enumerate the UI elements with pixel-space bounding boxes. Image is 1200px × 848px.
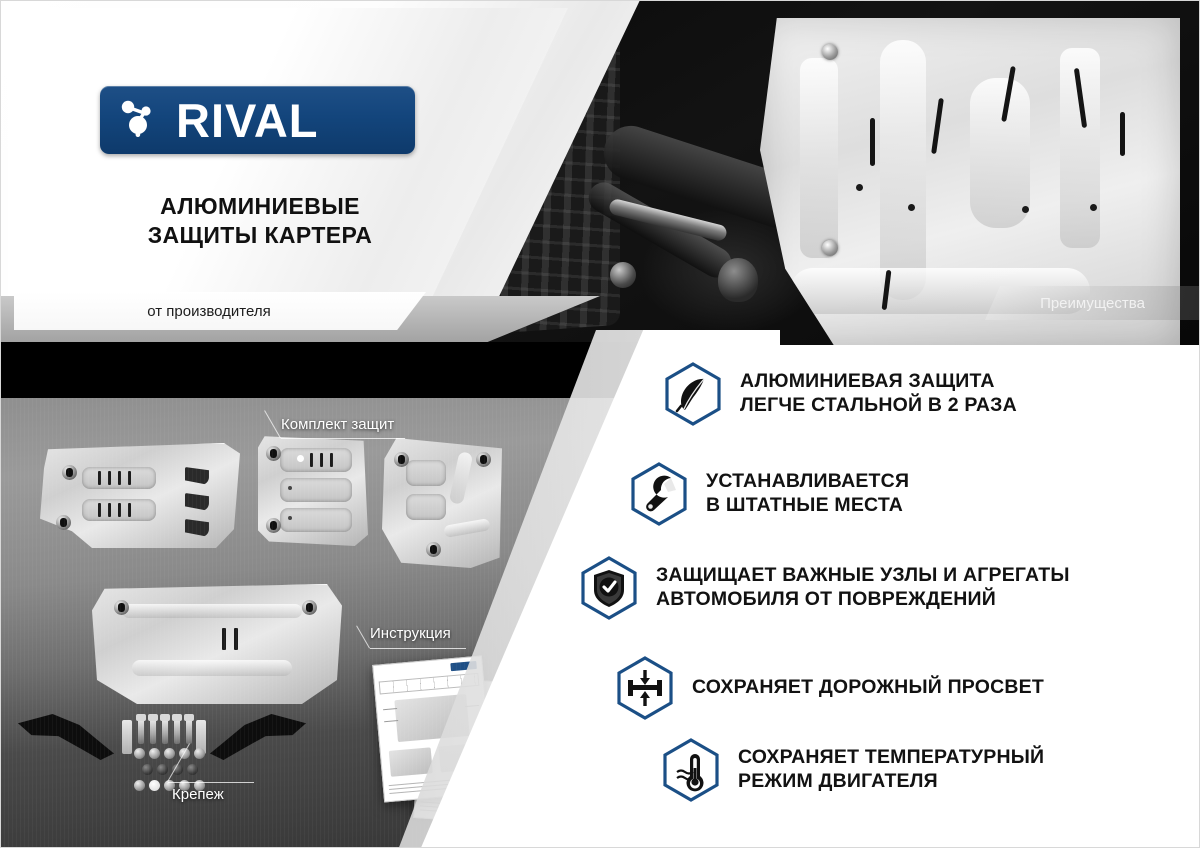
feature-weight-line2: ЛЕГЧЕ СТАЛЬНОЙ В 2 РАЗА [740, 394, 1017, 418]
brand-logo: RIVAL [100, 86, 415, 154]
skid-plate-large [40, 443, 240, 548]
callout-dot-kit [297, 455, 304, 462]
feature-item-weight: АЛЮМИНИЕВАЯ ЗАЩИТА ЛЕГЧЕ СТАЛЬНОЙ В 2 РА… [664, 362, 1017, 426]
shield-check-icon [580, 556, 638, 620]
feature-protect-line2: АВТОМОБИЛЯ ОТ ПОВРЕЖДЕНИЙ [656, 588, 1070, 612]
feature-text-temperature: СОХРАНЯЕТ ТЕМПЕРАТУРНЫЙ РЕЖИМ ДВИГАТЕЛЯ [738, 746, 1044, 794]
feature-install-line2: В ШТАТНЫЕ МЕСТА [706, 494, 909, 518]
molecule-icon [118, 95, 164, 146]
subtitle-text: от производителя [147, 303, 292, 320]
callout-line-instruction [370, 648, 466, 649]
feature-protect-line1: ЗАЩИЩАЕТ ВАЖНЫЕ УЗЛЫ И АГРЕГАТЫ [656, 564, 1070, 588]
ball-joint [610, 262, 636, 288]
callout-label-instruction: Инструкция [370, 625, 451, 642]
feather-icon [664, 362, 722, 426]
feature-text-weight: АЛЮМИНИЕВАЯ ЗАЩИТА ЛЕГЧЕ СТАЛЬНОЙ В 2 РА… [740, 370, 1017, 418]
feature-text-clearance: СОХРАНЯЕТ ДОРОЖНЫЙ ПРОСВЕТ [692, 676, 1044, 700]
feature-item-clearance: СОХРАНЯЕТ ДОРОЖНЫЙ ПРОСВЕТ [616, 656, 1044, 720]
subtitle-bar: от производителя [14, 292, 426, 330]
thermometer-icon [662, 738, 720, 802]
page-title-line1: АЛЮМИНИЕВЫЕ [0, 192, 520, 221]
ground-clearance-icon [616, 656, 674, 720]
feature-text-protect: ЗАЩИЩАЕТ ВАЖНЫЕ УЗЛЫ И АГРЕГАТЫ АВТОМОБИ… [656, 564, 1070, 612]
skid-plate-middle [258, 434, 368, 546]
feature-temperature-line1: СОХРАНЯЕТ ТЕМПЕРАТУРНЫЙ [738, 746, 1044, 770]
features-list: АЛЮМИНИЕВАЯ ЗАЩИТА ЛЕГЧЕ СТАЛЬНОЙ В 2 РА… [566, 356, 1200, 836]
feature-temperature-line2: РЕЖИМ ДВИГАТЕЛЯ [738, 770, 1044, 794]
advantages-tab-label: Преимущества [1040, 295, 1145, 312]
page-title: АЛЮМИНИЕВЫЕ ЗАЩИТЫ КАРТЕРА [0, 192, 520, 250]
page-title-line2: ЗАЩИТЫ КАРТЕРА [0, 221, 520, 250]
brand-name: RIVAL [176, 97, 319, 144]
feature-weight-line1: АЛЮМИНИЕВАЯ ЗАЩИТА [740, 370, 1017, 394]
feature-install-line1: УСТАНАВЛИВАЕТСЯ [706, 470, 909, 494]
cv-boot [718, 258, 758, 302]
skid-plate-right [382, 438, 502, 568]
promo-poster: RIVAL АЛЮМИНИЕВЫЕ ЗАЩИТЫ КАРТЕРА от прои… [0, 0, 1200, 848]
callout-label-fasteners: Крепеж [172, 786, 224, 803]
skid-plate-bottom [92, 584, 342, 704]
feature-item-protect: ЗАЩИЩАЕТ ВАЖНЫЕ УЗЛЫ И АГРЕГАТЫ АВТОМОБИ… [580, 556, 1070, 620]
callout-label-kit: Комплект защит [281, 416, 394, 433]
feature-item-temperature: СОХРАНЯЕТ ТЕМПЕРАТУРНЫЙ РЕЖИМ ДВИГАТЕЛЯ [662, 738, 1044, 802]
callout-line-fasteners [168, 782, 254, 783]
wrench-icon [630, 462, 688, 526]
feature-item-install: УСТАНАВЛИВАЕТСЯ В ШТАТНЫЕ МЕСТА [630, 462, 909, 526]
feature-clearance-line1: СОХРАНЯЕТ ДОРОЖНЫЙ ПРОСВЕТ [692, 676, 1044, 700]
mounting-bracket-right [210, 714, 306, 760]
advantages-tab[interactable]: Преимущества [985, 286, 1200, 320]
callout-line-kit [281, 438, 405, 439]
header-inner-panel [8, 8, 568, 342]
mounting-bracket-left [18, 714, 114, 760]
feature-text-install: УСТАНАВЛИВАЕТСЯ В ШТАТНЫЕ МЕСТА [706, 470, 909, 518]
